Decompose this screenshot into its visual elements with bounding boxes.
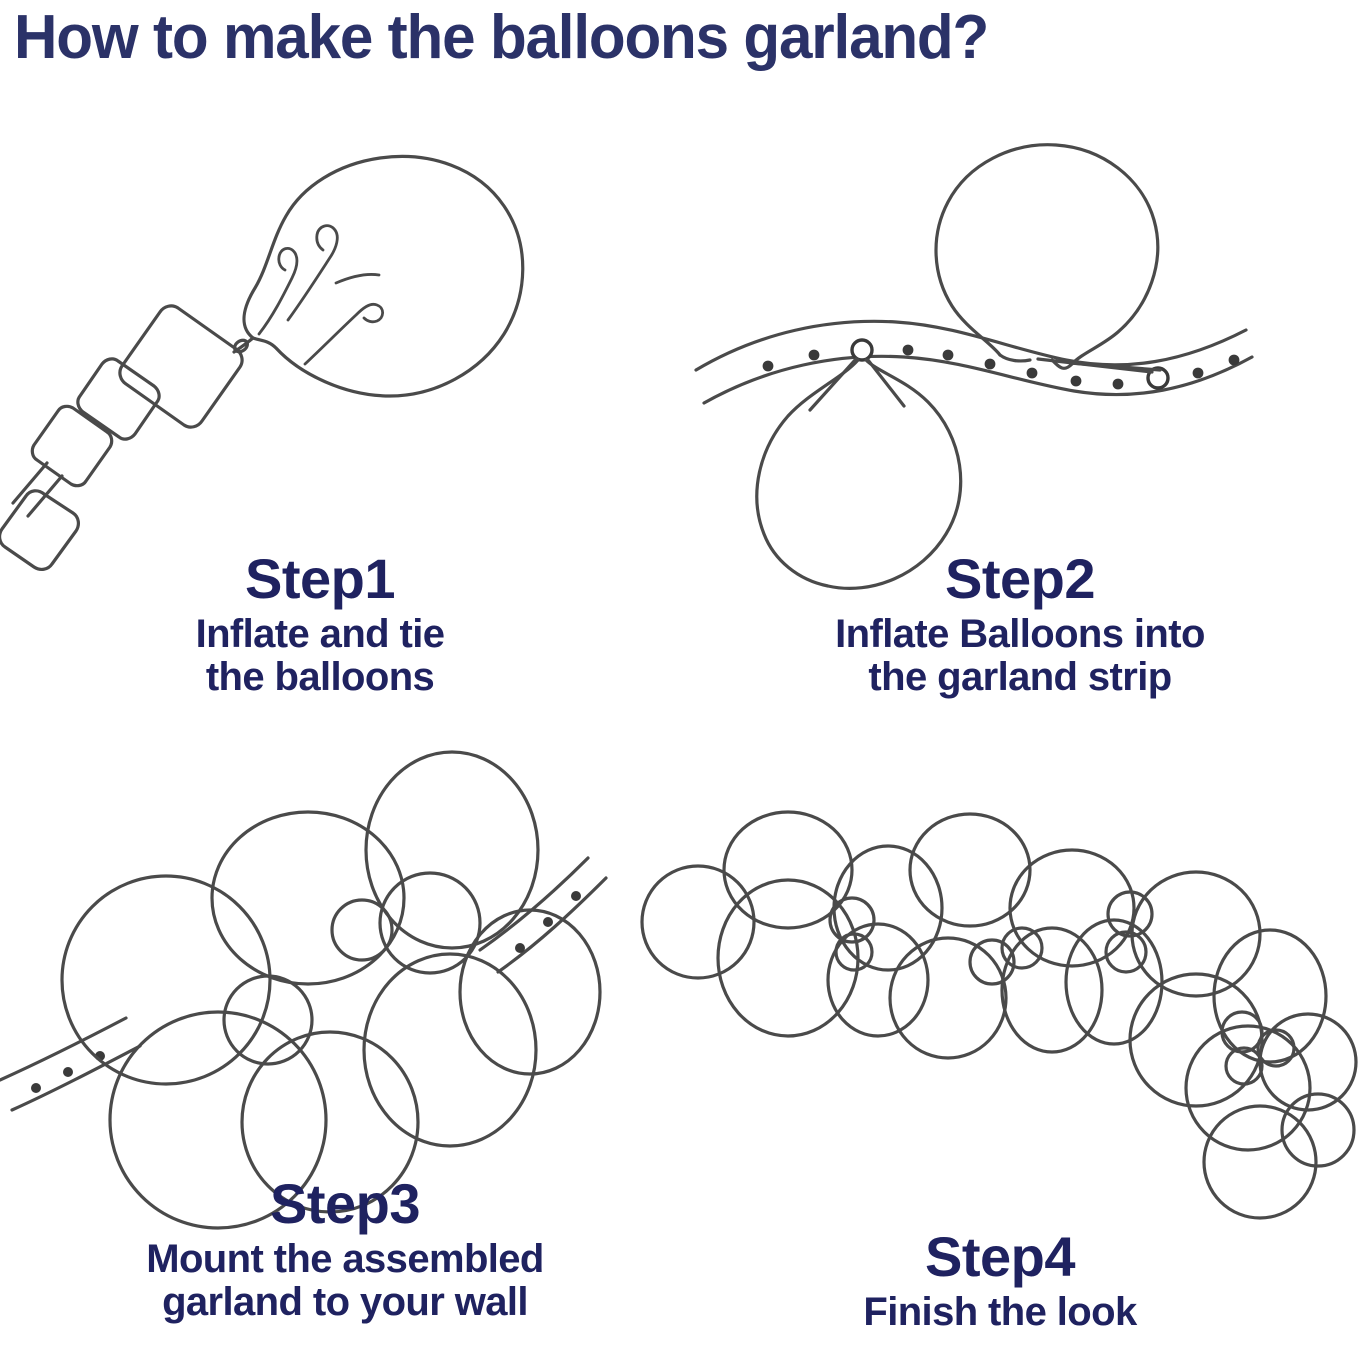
step-4-block: Step4 Finish the look bbox=[640, 800, 1358, 1372]
finished-garland-arch bbox=[642, 812, 1356, 1218]
balloon-1 bbox=[642, 866, 754, 978]
balloon-10 bbox=[1066, 920, 1162, 1044]
step-1-text: Step1 Inflate and tie the balloons bbox=[40, 550, 600, 699]
step-3-heading: Step3 bbox=[30, 1175, 660, 1232]
balloon-top-right bbox=[366, 752, 538, 948]
step-3-caption-line-1: Mount the assembled bbox=[30, 1238, 660, 1281]
step-2-caption-line-1: Inflate Balloons into bbox=[700, 613, 1340, 656]
pump-collar-lower bbox=[32, 406, 111, 485]
garland-strip bbox=[696, 321, 1252, 403]
garland-strip-left bbox=[0, 1018, 140, 1110]
step-1-heading: Step1 bbox=[40, 550, 600, 607]
balloon-cluster bbox=[62, 752, 600, 1228]
step-4-caption: Finish the look bbox=[700, 1291, 1300, 1334]
balloon-outline bbox=[244, 156, 523, 396]
step-2-caption: Inflate Balloons into the garland strip bbox=[700, 613, 1340, 699]
garland-strip-right bbox=[480, 858, 606, 972]
balloon-small-2 bbox=[836, 934, 872, 970]
step-3-illustration bbox=[0, 750, 690, 1180]
airflow-squiggles bbox=[259, 226, 383, 364]
balloon-11 bbox=[1132, 872, 1260, 996]
step-1-block: Step1 Inflate and tie the balloons bbox=[0, 120, 640, 760]
balloon-13 bbox=[1214, 930, 1326, 1062]
instruction-page: How to make the balloons garland? bbox=[0, 0, 1358, 1372]
balloon-right bbox=[460, 910, 600, 1074]
step-3-caption: Mount the assembled garland to your wall bbox=[30, 1238, 660, 1324]
strip-ring-hole-left bbox=[852, 340, 872, 360]
step-4-caption-line-1: Finish the look bbox=[700, 1291, 1300, 1334]
step-1-caption: Inflate and tie the balloons bbox=[40, 613, 600, 699]
step-3-caption-line-2: garland to your wall bbox=[30, 1281, 660, 1324]
step-4-text: Step4 Finish the look bbox=[700, 1228, 1300, 1334]
balloon-6 bbox=[910, 814, 1030, 926]
pump-nozzle-tip bbox=[232, 338, 253, 354]
balloon-small-7 bbox=[1222, 1012, 1262, 1052]
step-2-text: Step2 Inflate Balloons into the garland … bbox=[700, 550, 1340, 699]
balloon-14 bbox=[1186, 1026, 1310, 1150]
step-1-caption-line-1: Inflate and tie bbox=[40, 613, 600, 656]
balloon-middle-right bbox=[364, 954, 536, 1146]
pump-barrel bbox=[120, 306, 242, 427]
step-1-caption-line-2: the balloons bbox=[40, 656, 600, 699]
step-3-block: Step3 Mount the assembled garland to you… bbox=[0, 750, 690, 1372]
page-title: How to make the balloons garland? bbox=[14, 2, 1304, 73]
balloon-7 bbox=[890, 938, 1006, 1058]
step-2-illustration bbox=[690, 110, 1350, 550]
step-2-heading: Step2 bbox=[700, 550, 1340, 607]
step-2-block: Step2 Inflate Balloons into the garland … bbox=[690, 110, 1350, 760]
step-1-illustration bbox=[0, 120, 640, 550]
step-3-text: Step3 Mount the assembled garland to you… bbox=[30, 1175, 660, 1324]
balloon-lower-neck bbox=[810, 359, 904, 410]
balloon-12 bbox=[1130, 974, 1262, 1106]
step-4-illustration bbox=[640, 800, 1358, 1220]
step-4-heading: Step4 bbox=[700, 1228, 1300, 1285]
step-2-caption-line-2: the garland strip bbox=[700, 656, 1340, 699]
